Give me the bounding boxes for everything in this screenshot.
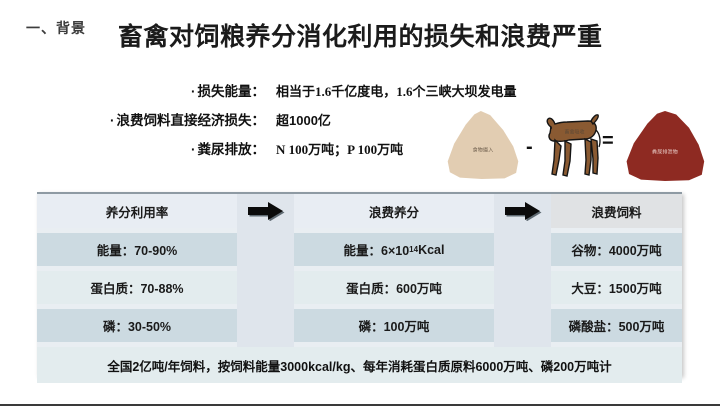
bullet-label-text: 粪尿排放： [198, 142, 266, 157]
table-row: 磷：30-50% 磷：100万吨 磷酸盐：500万吨 [37, 309, 682, 342]
spacer-a [37, 342, 237, 347]
bullet-label: ·浪费饲料直接经济损失： [20, 109, 265, 129]
cell-gap [494, 309, 551, 342]
pile-shape [447, 111, 519, 179]
table-header-wasted-feed: 浪费饲料 [551, 194, 682, 228]
spacer-b [294, 342, 494, 347]
table-footnote: 全国2亿吨/年饲料，按饲料能量3000kcal/kg、每年消耗蛋白质原料6000… [37, 347, 682, 383]
bullet-label: ·粪尿排放： [20, 138, 265, 158]
equals-sign-icon: = [602, 131, 614, 151]
excreta-label: 粪尿排泄物 [652, 148, 678, 155]
spacer-c [551, 342, 682, 347]
table-header-row: 养分利用率 浪费养分 浪费饲料 [37, 194, 682, 228]
bullet-dot-icon: · [191, 84, 196, 99]
value-suffix: Kcal [418, 243, 444, 257]
value-prefix: 能量：6×10 [344, 240, 410, 259]
value-exponent: 14 [409, 245, 418, 254]
cell-wasted-nutrient-protein: 蛋白质：600万吨 [294, 271, 494, 304]
cow-svg [541, 108, 603, 182]
food-intake-pile-icon: 食物摄入 [447, 111, 519, 179]
cell-wasted-nutrient-phosphorus: 磷：100万吨 [294, 309, 494, 342]
cell-gap [494, 233, 551, 266]
bullet-value: N 100万吨；P 100万吨 [276, 139, 403, 158]
table-row: 蛋白质：70-88% 蛋白质：600万吨 大豆：1500万吨 [37, 271, 682, 304]
section-label: 一、背景 [26, 18, 86, 38]
bullet-item-energy-loss: ·损失能量： 相当于1.6千亿度电，1.6个三峡大坝发电量 [20, 80, 420, 101]
page-title: 畜禽对饲粮养分消化利用的损失和浪费严重 [118, 17, 603, 53]
cell-utilization-phosphorus: 磷：30-50% [37, 309, 237, 342]
cell-wasted-feed-phosphate: 磷酸盐：500万吨 [551, 309, 682, 342]
slide-canvas: 一、背景 畜禽对饲粮养分消化利用的损失和浪费严重 ·损失能量： 相当于1.6千亿… [0, 0, 720, 406]
cell-gap [237, 271, 294, 304]
table-row: 能量：70-90% 能量：6×1014Kcal 谷物：4000万吨 [37, 233, 682, 266]
bullet-label: ·损失能量： [20, 80, 265, 100]
bullet-value: 超1000亿 [276, 110, 331, 129]
cell-wasted-feed-soybean: 大豆：1500万吨 [551, 271, 682, 304]
pile-shape [625, 111, 705, 181]
right-arrow-icon [246, 201, 286, 221]
animal-absorption-label: 畜禽吸收 [564, 128, 584, 135]
bullet-dot-icon: · [191, 142, 196, 157]
bullet-item-excreta: ·粪尿排放： N 100万吨；P 100万吨 [20, 138, 420, 159]
bullet-dot-icon: · [110, 113, 115, 128]
bullet-label-text: 损失能量： [198, 84, 266, 99]
table-footnote-row: 全国2亿吨/年饲料，按饲料能量3000kcal/kg、每年消耗蛋白质原料6000… [37, 347, 682, 383]
mass-balance-illustration: 食物摄入 - 畜禽吸收 = 粪尿排泄物 [443, 101, 711, 183]
spacer-gap [237, 342, 294, 347]
bullet-label-text: 浪费饲料直接经济损失： [117, 113, 266, 128]
excreta-pile-icon: 粪尿排泄物 [625, 111, 705, 181]
livestock-cow-icon: 畜禽吸收 [541, 108, 603, 182]
cell-gap [494, 271, 551, 304]
cell-wasted-nutrient-energy: 能量：6×1014Kcal [294, 233, 494, 266]
cell-gap [237, 233, 294, 266]
arrow-cell-2 [494, 194, 551, 228]
table-row-spacer [37, 342, 682, 347]
table-header-utilization: 养分利用率 [37, 194, 237, 228]
minus-sign-icon: - [526, 137, 533, 157]
spacer-gap [494, 342, 551, 347]
bullet-item-economic-loss: ·浪费饲料直接经济损失： 超1000亿 [20, 109, 420, 130]
nutrient-waste-table: 养分利用率 浪费养分 浪费饲料 能 [37, 192, 682, 376]
arrow-cell-1 [237, 194, 294, 228]
cell-utilization-energy: 能量：70-90% [37, 233, 237, 266]
right-arrow-icon [503, 201, 543, 221]
table-header-wasted-nutrients: 浪费养分 [294, 194, 494, 228]
bullet-value: 相当于1.6千亿度电，1.6个三峡大坝发电量 [276, 81, 517, 100]
cell-wasted-feed-grain: 谷物：4000万吨 [551, 233, 682, 266]
cell-utilization-protein: 蛋白质：70-88% [37, 271, 237, 304]
cell-gap [237, 309, 294, 342]
food-intake-label: 食物摄入 [473, 147, 494, 154]
bullet-list: ·损失能量： 相当于1.6千亿度电，1.6个三峡大坝发电量 ·浪费饲料直接经济损… [20, 80, 420, 167]
